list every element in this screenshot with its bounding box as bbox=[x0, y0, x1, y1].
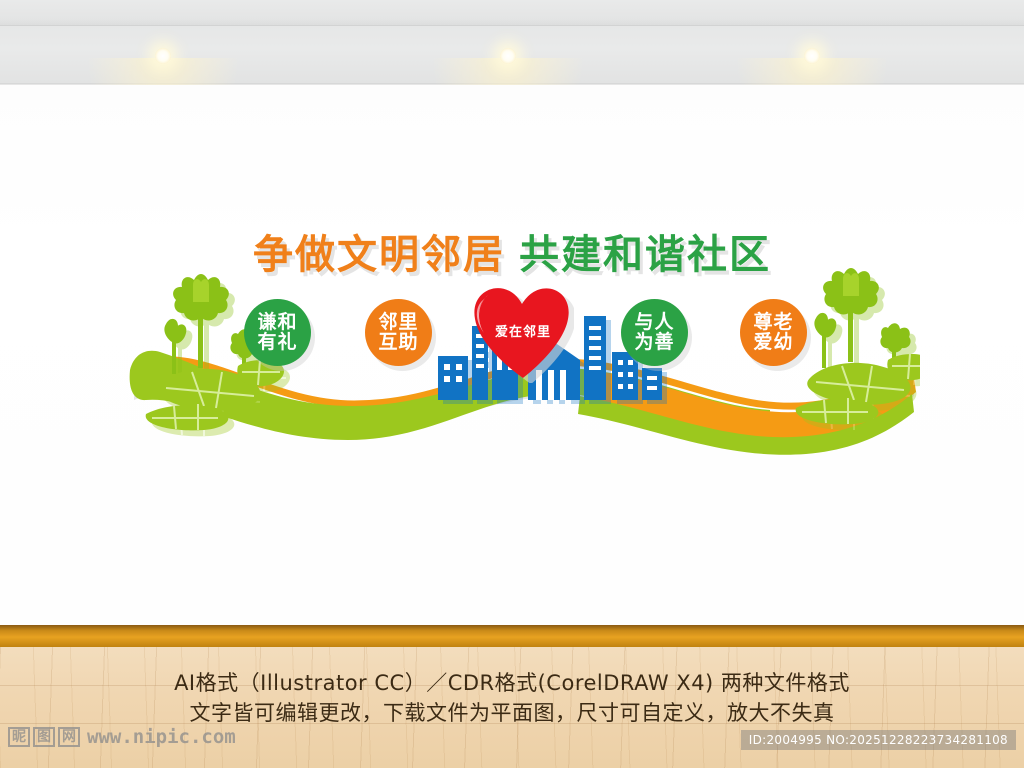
badge-zunlao-aiyou[interactable]: 尊老 爱幼 bbox=[740, 299, 807, 366]
floor-baseboard bbox=[0, 625, 1024, 647]
badge-3-line2: 为善 bbox=[634, 333, 674, 352]
badge-1-line2: 有礼 bbox=[257, 333, 297, 352]
badge-2-line2: 互助 bbox=[378, 333, 418, 352]
heart-label: 爱在邻里 bbox=[472, 321, 574, 340]
badge-linli-huzhu[interactable]: 邻里 互助 bbox=[365, 299, 432, 366]
watermark-char-1: 昵 bbox=[8, 727, 30, 747]
badge-3-line1: 与人 bbox=[634, 313, 674, 332]
watermark-char-2: 图 bbox=[33, 727, 55, 747]
badge-yuren-weishan[interactable]: 与人 为善 bbox=[621, 299, 688, 366]
badge-4-line2: 爱幼 bbox=[753, 333, 793, 352]
asset-id-badge: ID:2004995 NO:20251228223734281108 bbox=[741, 730, 1016, 750]
badge-4-line1: 尊老 bbox=[753, 313, 793, 332]
ceiling-spotlight-right-icon bbox=[804, 48, 820, 64]
badge-qianhe-youli[interactable]: 谦和 有礼 bbox=[244, 299, 311, 366]
site-watermark: 昵 图 网 www.nipic.com bbox=[8, 726, 236, 748]
watermark-char-3: 网 bbox=[58, 727, 80, 747]
heart-emblem: 爱在邻里 bbox=[472, 283, 574, 383]
screenshot-stage: 争做文明邻居共建和谐社区 bbox=[0, 0, 1024, 768]
watermark-url: www.nipic.com bbox=[87, 726, 236, 748]
caption-line-2: 文字皆可编辑更改，下载文件为平面图，尺寸可自定义，放大不失真 bbox=[0, 698, 1024, 728]
badge-1-line1: 谦和 bbox=[257, 313, 297, 332]
ceiling-panel bbox=[0, 0, 1024, 26]
watermark-logo-icon: 昵 图 网 bbox=[8, 727, 80, 747]
ceiling-spotlight-left-icon bbox=[155, 48, 171, 64]
footer-caption: AI格式（Illustrator CC）／CDR格式(CorelDRAW X4)… bbox=[0, 668, 1024, 728]
caption-line-1: AI格式（Illustrator CC）／CDR格式(CorelDRAW X4)… bbox=[0, 668, 1024, 698]
ceiling-spotlight-center-icon bbox=[500, 48, 516, 64]
badge-2-line1: 邻里 bbox=[378, 313, 418, 332]
lotus-plant-right-icon bbox=[796, 268, 920, 430]
